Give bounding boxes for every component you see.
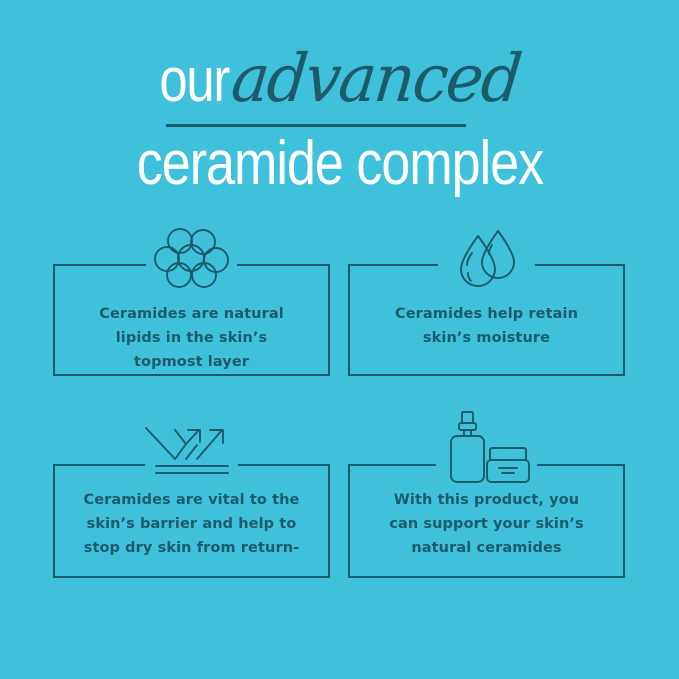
- bottle-and-jar-icon: [444, 410, 532, 484]
- info-card-ceramides-vital-barrier: Ceramides are vital to the skin’s barrie…: [53, 422, 330, 578]
- headline-line-1: ouradvanced: [0, 44, 679, 118]
- headline-line-2: ceramide complex: [0, 128, 679, 200]
- barrier-arrows-icon: [144, 422, 240, 478]
- card-text-line: Ceramides are natural: [53, 302, 330, 326]
- card-text-line: natural ceramides: [348, 536, 625, 560]
- card-text: Ceramides help retain skin’s moisture: [348, 302, 625, 350]
- card-text-line: With this product, you: [348, 488, 625, 512]
- card-text-line: topmost layer: [53, 350, 330, 374]
- card-text-line: skin’s barrier and help to: [53, 512, 330, 536]
- headline-word-our: our: [160, 46, 230, 116]
- card-text-line: lipids in the skin’s: [53, 326, 330, 350]
- info-card-ceramides-natural-lipids: Ceramides are natural lipids in the skin…: [53, 228, 330, 376]
- headline-word-advanced-script: advanced: [228, 44, 523, 114]
- card-text-line: Ceramides help retain: [348, 302, 625, 326]
- headline-underline: [166, 124, 466, 127]
- water-droplets-icon: [454, 228, 522, 290]
- card-text-line: Ceramides are vital to the: [53, 488, 330, 512]
- card-text-line: can support your skin’s: [348, 512, 625, 536]
- cell-cluster-icon: [154, 228, 230, 290]
- info-card-support-natural-ceramides: With this product, you can support your …: [348, 410, 625, 578]
- card-text-line: skin’s moisture: [348, 326, 625, 350]
- page-headline: ouradvanced ceramide complex: [0, 44, 679, 204]
- card-text: With this product, you can support your …: [348, 488, 625, 560]
- info-card-ceramides-retain-moisture: Ceramides help retain skin’s moisture: [348, 228, 625, 376]
- card-text: Ceramides are vital to the skin’s barrie…: [53, 488, 330, 560]
- card-text-line: stop dry skin from return-: [53, 536, 330, 560]
- card-text: Ceramides are natural lipids in the skin…: [53, 302, 330, 374]
- headline-text-ceramide-complex: ceramide complex: [136, 128, 542, 200]
